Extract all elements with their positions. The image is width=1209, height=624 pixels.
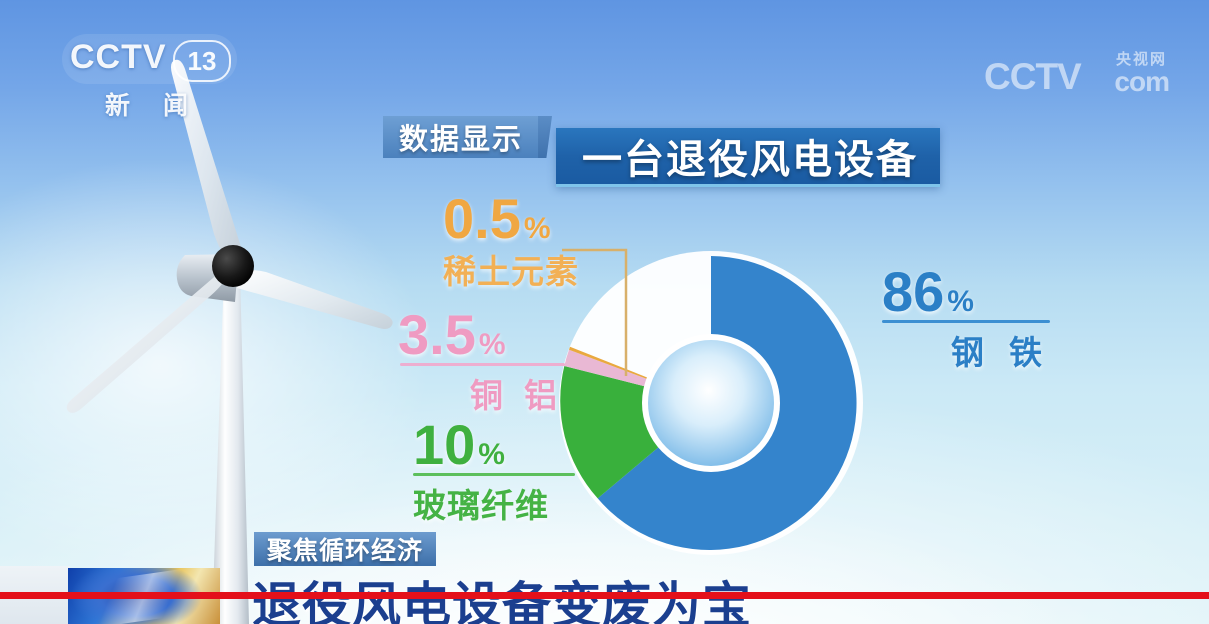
channel-number: 13 xyxy=(173,40,231,82)
cctv13-logo: CCTV 13 新 闻 xyxy=(62,34,237,126)
stat-steel-label: 钢 铁 xyxy=(882,326,1050,374)
broadcast-screen: CCTV 13 新 闻 CCTV 央视网 com 数据显示 一台退役风电设备 xyxy=(0,0,1209,624)
data-source-tag: 数据显示 xyxy=(383,116,539,158)
stat-copper-aluminium-label: 铜 铝 xyxy=(398,369,563,417)
stat-copper-aluminium: 3.5% 铜 铝 xyxy=(398,308,565,417)
cctv-com-watermark: CCTV 央视网 com xyxy=(984,36,1169,98)
channel-name: 新 闻 xyxy=(88,86,218,122)
watermark-domain-text: com xyxy=(1114,66,1169,98)
topic-tag: 聚焦循环经济 xyxy=(254,532,436,566)
stat-steel-value: 86% xyxy=(882,265,1050,318)
stat-copper-aluminium-value: 3.5% xyxy=(398,308,565,361)
stat-rare-earth: 0.5% 稀土元素 xyxy=(443,192,579,293)
stat-glass-fiber-label: 玻璃纤维 xyxy=(413,479,575,527)
watermark-cctv-text: CCTV xyxy=(984,56,1081,98)
stat-glass-fiber-value: 10% xyxy=(413,418,575,471)
stat-rare-earth-label: 稀土元素 xyxy=(443,245,579,293)
ticker-red-line xyxy=(0,592,1209,599)
stat-rare-earth-value: 0.5% xyxy=(443,192,579,245)
stat-glass-fiber: 10% 玻璃纤维 xyxy=(413,418,575,527)
stat-steel: 86% 钢 铁 xyxy=(882,265,1050,374)
page-title: 一台退役风电设备 xyxy=(556,128,940,187)
